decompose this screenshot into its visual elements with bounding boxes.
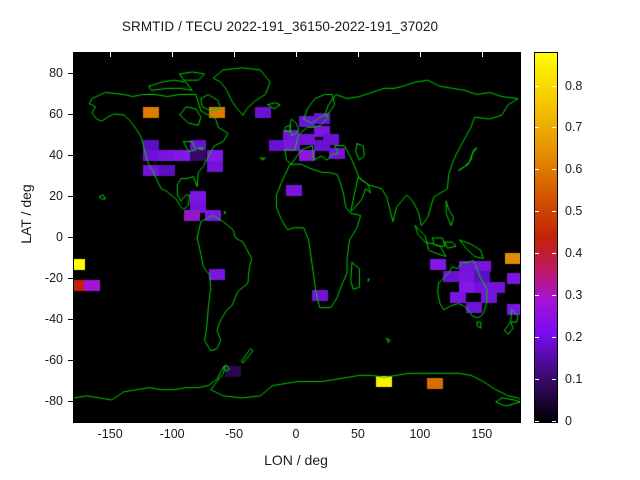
x-tick-label: 0 xyxy=(293,427,300,441)
x-tick-mark-top xyxy=(296,52,297,57)
y-tick-label: -40 xyxy=(23,312,63,326)
x-tick-label: 50 xyxy=(351,427,365,441)
x-tick-mark xyxy=(110,416,111,421)
colorbar-tick-mark xyxy=(535,211,539,212)
y-axis-title: LAT / deg xyxy=(18,144,34,284)
x-tick-label: 150 xyxy=(471,427,492,441)
colorbar xyxy=(534,52,558,423)
x-tick-mark-top xyxy=(420,52,421,57)
x-tick-mark-top xyxy=(110,52,111,57)
x-tick-label: 100 xyxy=(409,427,430,441)
x-tick-mark xyxy=(358,416,359,421)
y-tick-label: -80 xyxy=(23,394,63,408)
y-tick-mark xyxy=(68,360,73,361)
x-tick-mark-top xyxy=(172,52,173,57)
colorbar-tick-mark xyxy=(552,211,556,212)
x-tick-mark-top xyxy=(358,52,359,57)
x-tick-mark xyxy=(420,416,421,421)
colorbar-tick-label: 0.6 xyxy=(565,162,582,176)
colorbar-tick-label: 0.8 xyxy=(565,79,582,93)
y-tick-mark xyxy=(68,319,73,320)
y-tick-mark xyxy=(68,114,73,115)
colorbar-tick-mark xyxy=(552,127,556,128)
colorbar-tick-mark xyxy=(535,253,539,254)
colorbar-tick-label: 0.5 xyxy=(565,204,582,218)
colorbar-tick-mark xyxy=(535,169,539,170)
colorbar-tick-mark xyxy=(552,295,556,296)
colorbar-tick-mark xyxy=(552,337,556,338)
colorbar-tick-mark xyxy=(552,86,556,87)
colorbar-tick-mark xyxy=(552,421,556,422)
colorbar-tick-mark xyxy=(535,421,539,422)
x-tick-mark-top xyxy=(482,52,483,57)
y-tick-mark xyxy=(68,196,73,197)
x-tick-mark xyxy=(296,416,297,421)
colorbar-tick-mark xyxy=(552,253,556,254)
x-axis-title: LON / deg xyxy=(73,452,519,468)
chart-root: SRMTID / TECU 2022-191_36150-2022-191_37… xyxy=(0,0,640,480)
colorbar-tick-mark xyxy=(535,127,539,128)
x-tick-mark xyxy=(482,416,483,421)
y-tick-mark xyxy=(68,155,73,156)
colorbar-tick-label: 0.3 xyxy=(565,288,582,302)
colorbar-tick-label: 0 xyxy=(565,414,572,428)
map-plot-area xyxy=(73,52,521,423)
x-tick-label: -150 xyxy=(98,427,123,441)
colorbar-tick-label: 0.2 xyxy=(565,330,582,344)
colorbar-tick-mark xyxy=(535,379,539,380)
map-canvas xyxy=(74,53,520,422)
colorbar-tick-label: 0.7 xyxy=(565,120,582,134)
x-tick-label: -50 xyxy=(225,427,243,441)
x-tick-mark-top xyxy=(234,52,235,57)
y-tick-label: 60 xyxy=(23,107,63,121)
y-tick-mark xyxy=(68,278,73,279)
x-tick-label: -100 xyxy=(160,427,185,441)
colorbar-tick-mark xyxy=(552,169,556,170)
colorbar-tick-mark xyxy=(535,86,539,87)
x-tick-mark xyxy=(172,416,173,421)
colorbar-tick-mark xyxy=(535,295,539,296)
colorbar-gradient xyxy=(535,53,557,422)
y-tick-label: -60 xyxy=(23,353,63,367)
colorbar-tick-label: 0.4 xyxy=(565,246,582,260)
y-tick-label: 80 xyxy=(23,66,63,80)
x-tick-mark xyxy=(234,416,235,421)
chart-title: SRMTID / TECU 2022-191_36150-2022-191_37… xyxy=(0,19,560,34)
colorbar-tick-mark xyxy=(535,337,539,338)
y-tick-mark xyxy=(68,73,73,74)
colorbar-tick-mark xyxy=(552,379,556,380)
y-tick-mark xyxy=(68,401,73,402)
y-tick-mark xyxy=(68,237,73,238)
colorbar-tick-label: 0.1 xyxy=(565,372,582,386)
